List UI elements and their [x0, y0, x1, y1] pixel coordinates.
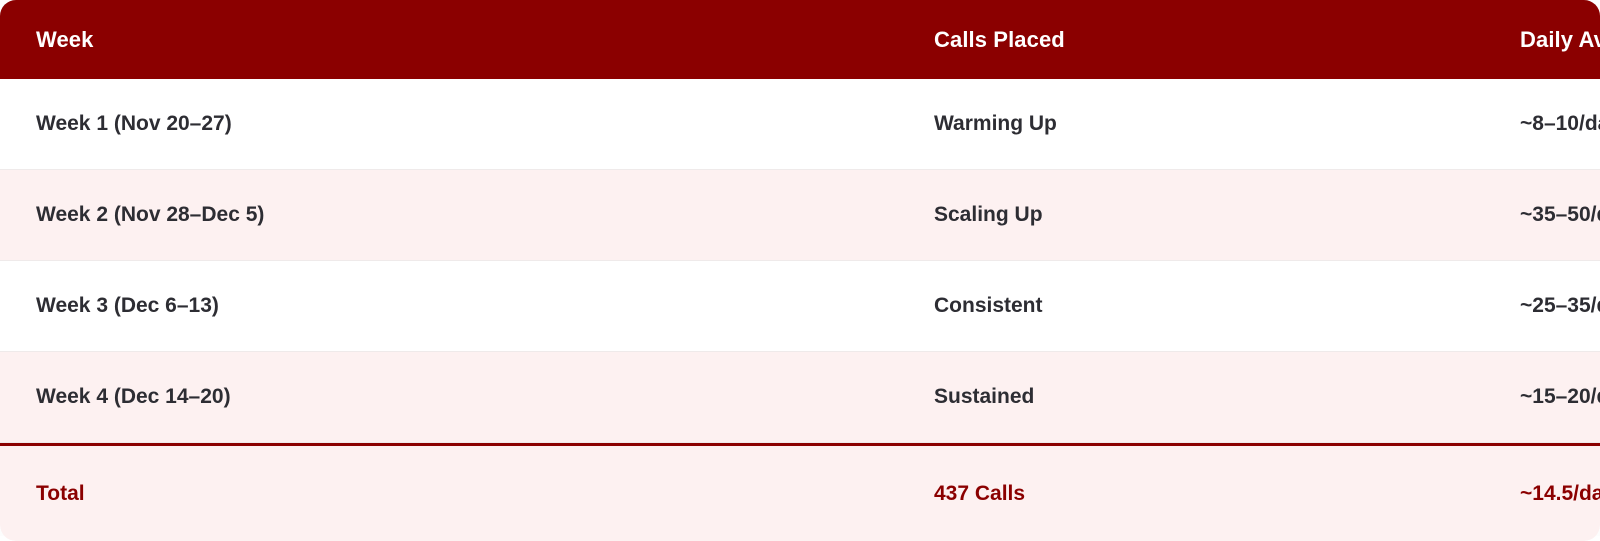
cell-performance: Peak performance reached	[1058, 170, 1600, 261]
table-row: Week 4 (Dec 14–20) Sustained ~15–20/day …	[0, 352, 1600, 443]
cell-calls-placed: Sustained	[449, 352, 742, 443]
table-container: Week Calls Placed Daily Average Performa…	[0, 0, 1600, 536]
cell-week: Week 1 (Nov 20–27)	[0, 79, 449, 170]
table-row: Week 3 (Dec 6–13) Consistent ~25–35/day …	[0, 261, 1600, 352]
total-label: Total	[0, 443, 449, 541]
table-header: Week Calls Placed Daily Average Performa…	[0, 0, 1600, 79]
weekly-performance-table: Week Calls Placed Daily Average Performa…	[0, 0, 1600, 541]
column-header-performance[interactable]: Performance	[1058, 0, 1600, 79]
cell-week: Week 4 (Dec 14–20)	[0, 352, 449, 443]
total-calls-placed: 437 Calls	[449, 443, 742, 541]
cell-calls-placed: Scaling Up	[449, 170, 742, 261]
column-header-calls-placed[interactable]: Calls Placed	[449, 0, 742, 79]
table-row: Week 2 (Nov 28–Dec 5) Scaling Up ~35–50/…	[0, 170, 1600, 261]
table-row: Week 1 (Nov 20–27) Warming Up ~8–10/day …	[0, 79, 1600, 170]
cell-calls-placed: Warming Up	[449, 79, 742, 170]
cell-week: Week 3 (Dec 6–13)	[0, 261, 449, 352]
total-performance: ₹5.51 per call	[1058, 443, 1600, 541]
cell-week: Week 2 (Nov 28–Dec 5)	[0, 170, 449, 261]
cell-performance: Budget-controlled delivery	[1058, 352, 1600, 443]
table-total-row: Total 437 Calls ~14.5/day avg ₹5.51 per …	[0, 443, 1600, 541]
cell-performance: Campaign learning phase	[1058, 79, 1600, 170]
column-header-week[interactable]: Week	[0, 0, 449, 79]
cell-calls-placed: Consistent	[449, 261, 742, 352]
table-body: Week 1 (Nov 20–27) Warming Up ~8–10/day …	[0, 79, 1600, 541]
table-header-row: Week Calls Placed Daily Average Performa…	[0, 0, 1600, 79]
cell-performance: Stable high volume	[1058, 261, 1600, 352]
